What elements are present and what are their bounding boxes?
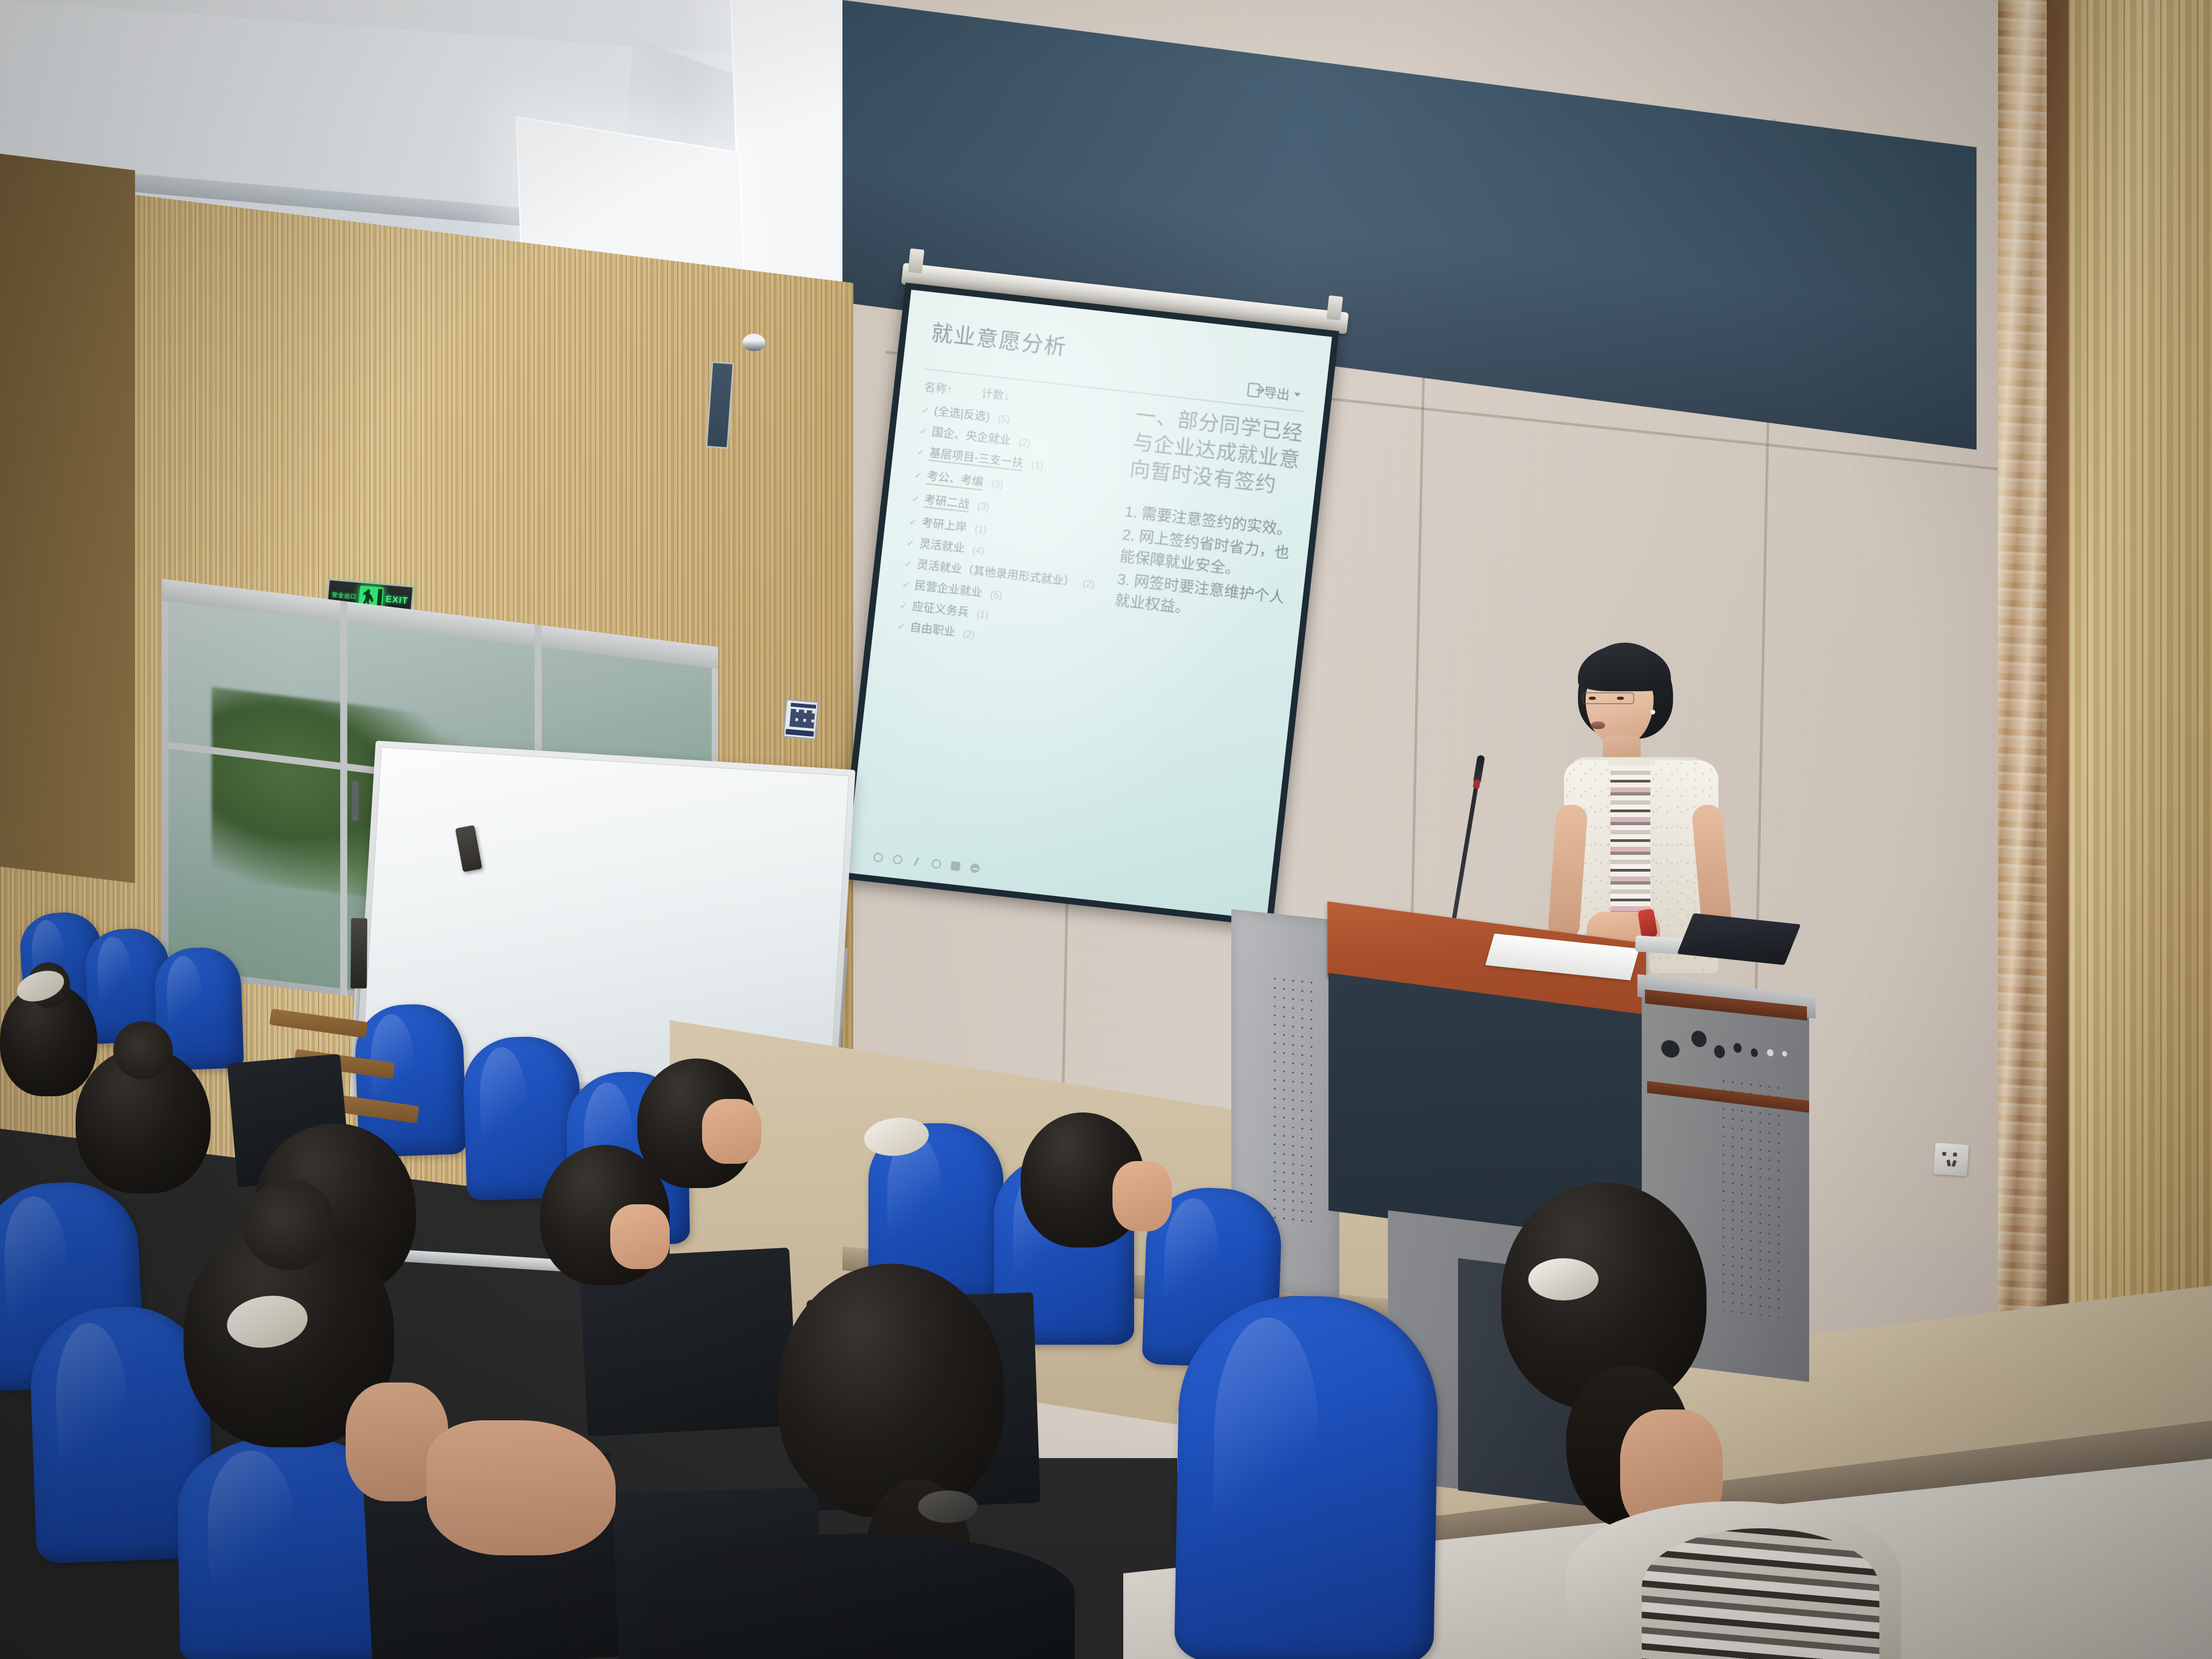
audience-arm bbox=[427, 1420, 616, 1555]
left-wall-dark-column bbox=[0, 154, 135, 884]
check-icon[interactable]: ✓ bbox=[919, 427, 927, 436]
screen-bracket bbox=[1326, 295, 1343, 321]
screen-surface: 就业意愿分析 导出 名称↑ 计数↓ ✓(全选|反选) bbox=[846, 289, 1332, 920]
list-item-label: 考公、考编 bbox=[926, 470, 984, 491]
column-header-name[interactable]: 名称↑ bbox=[923, 378, 954, 397]
presenter-earring bbox=[1650, 710, 1655, 714]
auditorium-seat[interactable] bbox=[1174, 1294, 1440, 1659]
exit-sign-label-en: EXIT bbox=[385, 594, 408, 607]
speaker-grille bbox=[1270, 974, 1313, 1228]
column-header-count[interactable]: 计数↓ bbox=[981, 385, 1011, 404]
list-item-label: 应征义务兵 bbox=[912, 601, 969, 618]
list-item-label: (全选|反选) bbox=[934, 406, 990, 423]
list-item-label: 基层项目-三支一扶 bbox=[929, 447, 1024, 471]
minus-circle-icon[interactable] bbox=[970, 863, 980, 873]
projection-screen: 就业意愿分析 导出 名称↑ 计数↓ ✓(全选|反选) bbox=[827, 263, 1359, 990]
list-item-count: (3) bbox=[977, 501, 990, 512]
list-item-count: (2) bbox=[1082, 578, 1095, 589]
hair-clip bbox=[1528, 1258, 1599, 1300]
slide-highlight-points: 1. 需要注意签约的实效。2. 网上签约省时省力，也能保障就业安全。3. 网签时… bbox=[1114, 501, 1301, 631]
wall-power-outlet[interactable] bbox=[1933, 1143, 1969, 1176]
presenter-eye bbox=[1589, 697, 1596, 700]
export-label: 导出 bbox=[1263, 382, 1291, 403]
screen-frame: 就业意愿分析 导出 名称↑ 计数↓ ✓(全选|反选) bbox=[839, 282, 1339, 927]
list-item-count: (5) bbox=[990, 589, 1003, 600]
dome-camera-icon bbox=[743, 334, 765, 351]
check-icon[interactable]: ✓ bbox=[909, 517, 918, 527]
list-item-label: 自由职业 bbox=[909, 622, 956, 638]
speaker-grille bbox=[1719, 1076, 1786, 1318]
circle-icon[interactable] bbox=[873, 852, 884, 862]
list-item-count: (1) bbox=[974, 524, 987, 535]
slide-option-list: ✓(全选|反选)(5)✓国企、央企就业(2)✓基层项目-三支一扶(1)✓考公、考… bbox=[897, 404, 1135, 655]
audience-head bbox=[778, 1264, 1004, 1518]
list-item-count: (5) bbox=[997, 414, 1010, 424]
check-icon[interactable]: ✓ bbox=[904, 559, 913, 569]
slide-content: 就业意愿分析 导出 名称↑ 计数↓ ✓(全选|反选) bbox=[846, 289, 1332, 920]
lecture-hall-scene: 安全出口 EXIT 就业意愿分析 导出 bbox=[0, 0, 2212, 1659]
list-item-label: 灵活就业 bbox=[919, 538, 965, 554]
presenter-eye bbox=[1617, 697, 1624, 700]
check-icon[interactable]: ✓ bbox=[911, 494, 920, 504]
audience-face bbox=[702, 1099, 761, 1164]
circle-outline-icon[interactable] bbox=[893, 854, 903, 865]
audience-shoulders bbox=[643, 1534, 1075, 1659]
presenter-mouth bbox=[1591, 721, 1605, 729]
check-icon[interactable]: ✓ bbox=[901, 580, 910, 590]
square-icon[interactable] bbox=[950, 861, 961, 871]
pen-icon[interactable] bbox=[912, 857, 922, 867]
exit-sign-label-cn: 安全出口 bbox=[332, 590, 357, 601]
door-mullion bbox=[340, 601, 347, 996]
wall-plaque bbox=[783, 698, 819, 740]
chevron-down-icon bbox=[1294, 393, 1301, 397]
check-icon[interactable]: ✓ bbox=[914, 470, 922, 480]
list-item-count: (4) bbox=[972, 545, 985, 556]
whiteboard-side-clip bbox=[350, 918, 367, 988]
target-icon[interactable] bbox=[931, 859, 941, 869]
audience-head bbox=[0, 983, 97, 1096]
list-item-label: 考研二战 bbox=[923, 494, 970, 512]
list-item-count: (1) bbox=[976, 609, 989, 620]
audience-face bbox=[610, 1204, 670, 1269]
right-ribbed-wall bbox=[2068, 0, 2212, 1323]
list-item-count: (2) bbox=[1018, 437, 1031, 448]
list-item-count: (1) bbox=[1031, 460, 1044, 470]
audience-head bbox=[76, 1048, 211, 1193]
check-icon[interactable]: ✓ bbox=[906, 538, 915, 548]
audience-face bbox=[1112, 1161, 1172, 1231]
slide-title: 就业意愿分析 bbox=[930, 315, 1311, 388]
check-icon[interactable]: ✓ bbox=[916, 448, 925, 457]
slide-highlight-heading: 一、部分同学已经与企业达成就业意向暂时没有签约 bbox=[1128, 402, 1313, 502]
export-icon bbox=[1247, 382, 1260, 397]
check-icon[interactable]: ✓ bbox=[899, 601, 908, 611]
screen-bracket bbox=[908, 248, 925, 274]
hair-tie bbox=[918, 1491, 977, 1523]
check-icon[interactable]: ✓ bbox=[921, 406, 930, 415]
check-icon[interactable]: ✓ bbox=[897, 622, 906, 632]
door-handle[interactable] bbox=[352, 780, 359, 821]
list-item-label: 考研上岸 bbox=[921, 517, 968, 533]
audience-striped-top bbox=[1642, 1528, 1879, 1659]
list-item-label: 民营企业就业 bbox=[914, 580, 983, 599]
list-item-count: (3) bbox=[991, 478, 1004, 489]
presenter-fringe bbox=[1578, 645, 1671, 691]
wall-rib-texture bbox=[2068, 0, 2212, 1323]
list-item-label: 国企、央企就业 bbox=[931, 426, 1011, 446]
list-item-count: (2) bbox=[962, 629, 975, 639]
